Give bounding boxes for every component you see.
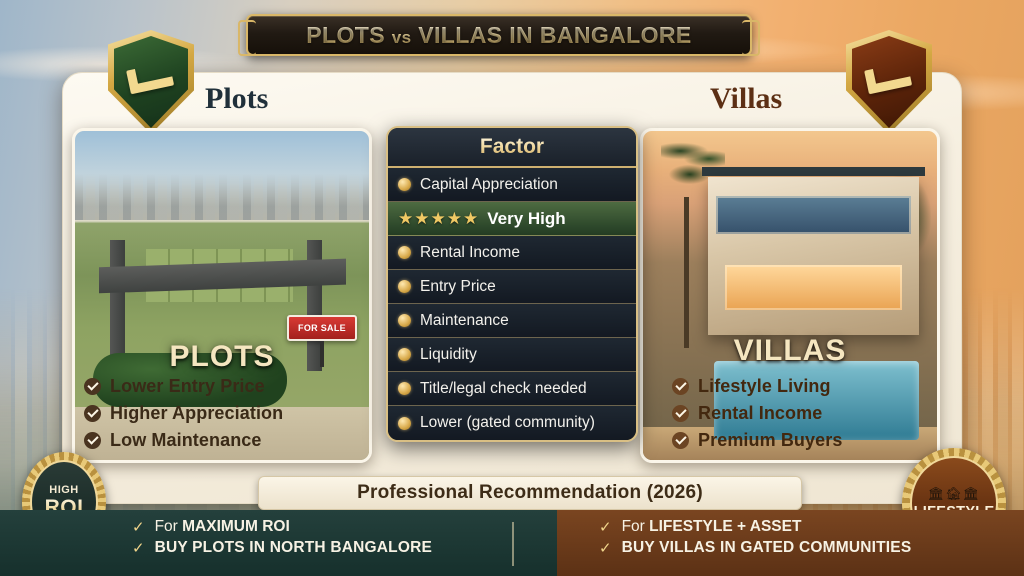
feature-label: Premium Buyers	[698, 430, 842, 451]
check-circle-icon	[84, 405, 101, 422]
factor-label: Rental Income	[420, 244, 520, 262]
table-row: Liquidity	[388, 338, 636, 372]
list-item: Lower Entry Price	[84, 376, 404, 397]
feature-label: Higher Appreciation	[110, 403, 283, 424]
check-icon: ✓	[132, 520, 145, 535]
star-rating: ★ ★ ★ ★ ★	[398, 210, 478, 227]
bullet-dot-icon	[398, 314, 411, 327]
recommendation-text: Professional Recommendation (2026)	[357, 482, 703, 504]
star-icon: ★	[414, 210, 429, 227]
factor-comparison-table: Factor Capital Appreciation ★ ★ ★ ★ ★ Ve…	[386, 126, 638, 442]
table-row-rating: ★ ★ ★ ★ ★ Very High	[388, 202, 636, 236]
factor-label: Entry Price	[420, 278, 496, 296]
footer-divider	[512, 522, 514, 566]
check-icon: ✓	[599, 541, 612, 556]
building-icons: 🏛🏚🏛	[928, 486, 981, 502]
feature-label: Lower Entry Price	[110, 376, 265, 397]
title-banner: PLOTS vs VILLAS IN BANGALORE	[246, 14, 752, 56]
feature-list-plots: Lower Entry Price Higher Appreciation Lo…	[84, 376, 404, 457]
title-vs: vs	[392, 28, 412, 47]
badge-top-label: HIGH	[49, 484, 79, 496]
check-circle-icon	[84, 378, 101, 395]
bullet-dot-icon	[398, 280, 411, 293]
check-icon: ✓	[599, 520, 612, 535]
footer-strong: MAXIMUM ROI	[182, 518, 290, 535]
footer: ✓ For MAXIMUM ROI ✓ BUY PLOTS IN NORTH B…	[0, 510, 1024, 576]
feature-label: Low Maintenance	[110, 430, 262, 451]
factor-label: Capital Appreciation	[420, 176, 558, 194]
footer-text: For MAXIMUM ROI	[155, 518, 290, 536]
star-icon: ★	[431, 210, 446, 227]
footer-text: BUY PLOTS IN NORTH BANGALORE	[155, 539, 432, 557]
photo-label-villas: VILLAS	[643, 334, 937, 368]
factor-label: Lower (gated community)	[420, 414, 595, 432]
footer-line: ✓ BUY PLOTS IN NORTH BANGALORE	[132, 539, 557, 557]
feature-label: Lifestyle Living	[698, 376, 831, 397]
shield-check-icon-plots	[108, 30, 194, 134]
bullet-dot-icon	[398, 246, 411, 259]
check-circle-icon	[672, 432, 689, 449]
recommendation-bar: Professional Recommendation (2026)	[258, 476, 802, 510]
factor-label: Title/legal check needed	[420, 380, 587, 398]
check-circle-icon	[84, 432, 101, 449]
footer-text: For LIFESTYLE + ASSET	[622, 518, 802, 536]
photo-label-plots: PLOTS	[75, 340, 369, 374]
footer-plots: ✓ For MAXIMUM ROI ✓ BUY PLOTS IN NORTH B…	[0, 510, 557, 576]
factor-label: Maintenance	[420, 312, 509, 330]
star-icon: ★	[463, 210, 478, 227]
table-header: Factor	[388, 128, 636, 168]
feature-list-villas: Lifestyle Living Rental Income Premium B…	[672, 376, 992, 457]
list-item: Higher Appreciation	[84, 403, 404, 424]
bullet-dot-icon	[398, 348, 411, 361]
footer-line: ✓ For MAXIMUM ROI	[132, 518, 557, 536]
table-row: Rental Income	[388, 236, 636, 270]
table-row: Title/legal check needed	[388, 372, 636, 406]
footer-prefix: For	[155, 518, 183, 535]
page-title: PLOTS vs VILLAS IN BANGALORE	[306, 22, 691, 49]
footer-prefix: For	[622, 518, 650, 535]
title-part1: PLOTS	[306, 22, 385, 48]
table-row: Entry Price	[388, 270, 636, 304]
title-part3: IN BANGALORE	[509, 22, 691, 48]
infographic-stage: PLOTS vs VILLAS IN BANGALORE Plots Villa…	[0, 0, 1024, 576]
footer-line: ✓ BUY VILLAS IN GATED COMMUNITIES	[599, 539, 1024, 557]
table-row: Maintenance	[388, 304, 636, 338]
footer-text: BUY VILLAS IN GATED COMMUNITIES	[622, 539, 912, 557]
table-row: Capital Appreciation	[388, 168, 636, 202]
footer-villas: ✓ For LIFESTYLE + ASSET ✓ BUY VILLAS IN …	[557, 510, 1024, 576]
column-heading-villas: Villas	[710, 82, 782, 116]
footer-line: ✓ For LIFESTYLE + ASSET	[599, 518, 1024, 536]
for-sale-sign-text: FOR SALE	[287, 315, 357, 341]
bullet-dot-icon	[398, 382, 411, 395]
rating-label: Very High	[487, 209, 565, 229]
star-icon: ★	[398, 210, 413, 227]
check-icon: ✓	[132, 541, 145, 556]
list-item: Low Maintenance	[84, 430, 404, 451]
table-header-label: Factor	[480, 135, 544, 159]
bullet-dot-icon	[398, 417, 411, 430]
feature-label: Rental Income	[698, 403, 822, 424]
check-circle-icon	[672, 405, 689, 422]
check-circle-icon	[672, 378, 689, 395]
star-icon: ★	[447, 210, 462, 227]
table-row: Lower (gated community)	[388, 406, 636, 440]
bullet-dot-icon	[398, 178, 411, 191]
list-item: Rental Income	[672, 403, 992, 424]
title-part2: VILLAS	[418, 22, 502, 48]
list-item: Lifestyle Living	[672, 376, 992, 397]
shield-check-icon-villas	[846, 30, 932, 134]
factor-label: Liquidity	[420, 346, 477, 364]
column-heading-plots: Plots	[205, 82, 268, 116]
footer-strong: LIFESTYLE + ASSET	[649, 518, 801, 535]
